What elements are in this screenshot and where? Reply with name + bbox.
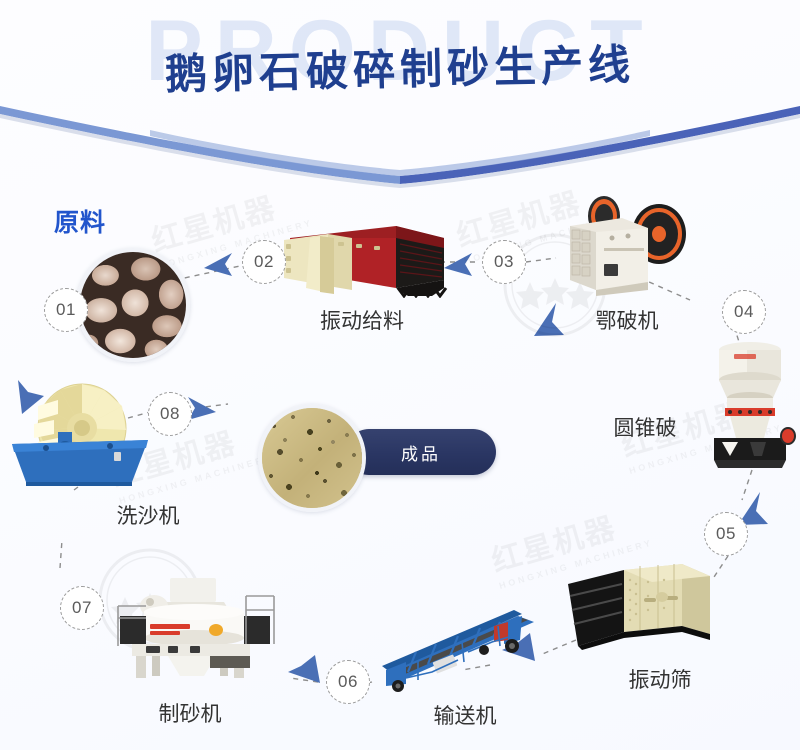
raw-material-photo xyxy=(76,248,190,362)
step-badge-06[interactable]: 06 xyxy=(326,660,370,704)
step-badge-07[interactable]: 07 xyxy=(60,586,104,630)
cone-crusher-illustration xyxy=(700,336,800,476)
sand-washer-illustration xyxy=(10,378,150,488)
step-badge-05[interactable]: 05 xyxy=(704,512,748,556)
step-caption-08: 洗沙机 xyxy=(88,500,208,530)
step-badge-02[interactable]: 02 xyxy=(242,240,286,284)
step-badge-04[interactable]: 04 xyxy=(722,290,766,334)
step-caption-06: 输送机 xyxy=(400,700,530,730)
finished-product-photo xyxy=(258,404,366,512)
product-flow-diagram: 红星机器 HONGXING MACHINERY 红星机器 HONGXING MA… xyxy=(0,0,800,750)
jaw-crusher-illustration xyxy=(552,186,702,298)
step-caption-03: 鄂破机 xyxy=(552,305,702,335)
sand-texture xyxy=(262,408,362,508)
step-caption-04: 圆锥破 xyxy=(590,412,700,442)
finished-product-badge: 成品 xyxy=(346,429,496,475)
vibrating-feeder-illustration xyxy=(276,208,448,298)
raw-material-label: 原料 xyxy=(54,203,106,239)
cobblestone-texture xyxy=(80,252,186,358)
header-swoosh-decoration xyxy=(0,100,800,190)
belt-conveyor-illustration xyxy=(372,606,542,696)
step-caption-07: 制砂机 xyxy=(120,698,260,728)
step-caption-02: 振动给料 xyxy=(276,305,448,335)
step-badge-08[interactable]: 08 xyxy=(148,392,192,436)
step-caption-05: 振动筛 xyxy=(600,664,720,694)
step-badge-03[interactable]: 03 xyxy=(482,240,526,284)
sand-making-machine-illustration xyxy=(106,572,276,682)
vibrating-screen-illustration xyxy=(560,556,720,656)
step-badge-01[interactable]: 01 xyxy=(44,288,88,332)
